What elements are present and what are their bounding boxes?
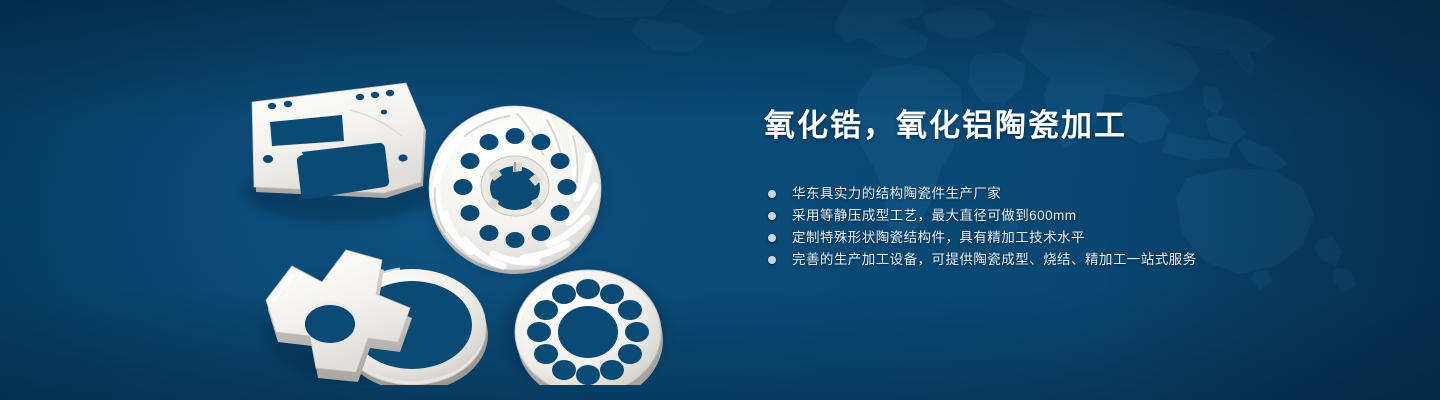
ceramic-mounting-plate	[252, 83, 426, 199]
list-item-label: 完善的生产加工设备，可提供陶瓷成型、烧结、精加工一站式服务	[792, 252, 1197, 267]
bullet-dot-icon	[768, 212, 776, 220]
banner-feature-list: 华东具实力的结构陶瓷件生产厂家 采用等静压成型工艺，最大直径可做到600mm 定…	[768, 187, 1364, 267]
ceramic-impeller-disc	[429, 106, 601, 274]
ceramic-perforated-disc	[515, 270, 663, 385]
list-item: 定制特殊形状陶瓷结构件，具有精加工技术水平	[768, 231, 1364, 245]
hero-banner: 氧化锆，氧化铝陶瓷加工 华东具实力的结构陶瓷件生产厂家 采用等静压成型工艺，最大…	[0, 0, 1440, 400]
banner-copy-block: 氧化锆，氧化铝陶瓷加工 华东具实力的结构陶瓷件生产厂家 采用等静压成型工艺，最大…	[764, 108, 1364, 275]
bullet-dot-icon	[768, 256, 776, 264]
banner-headline: 氧化锆，氧化铝陶瓷加工	[764, 108, 1364, 145]
list-item-label: 定制特殊形状陶瓷结构件，具有精加工技术水平	[792, 230, 1085, 245]
list-item: 华东具实力的结构陶瓷件生产厂家	[768, 187, 1364, 201]
list-item-label: 采用等静压成型工艺，最大直径可做到600mm	[792, 208, 1076, 223]
list-item: 采用等静压成型工艺，最大直径可做到600mm	[768, 209, 1364, 223]
ceramic-products-group	[230, 40, 730, 385]
list-item-label: 华东具实力的结构陶瓷件生产厂家	[792, 186, 1001, 201]
bullet-dot-icon	[768, 190, 776, 198]
bullet-dot-icon	[768, 234, 776, 242]
list-item: 完善的生产加工设备，可提供陶瓷成型、烧结、精加工一站式服务	[768, 253, 1364, 267]
